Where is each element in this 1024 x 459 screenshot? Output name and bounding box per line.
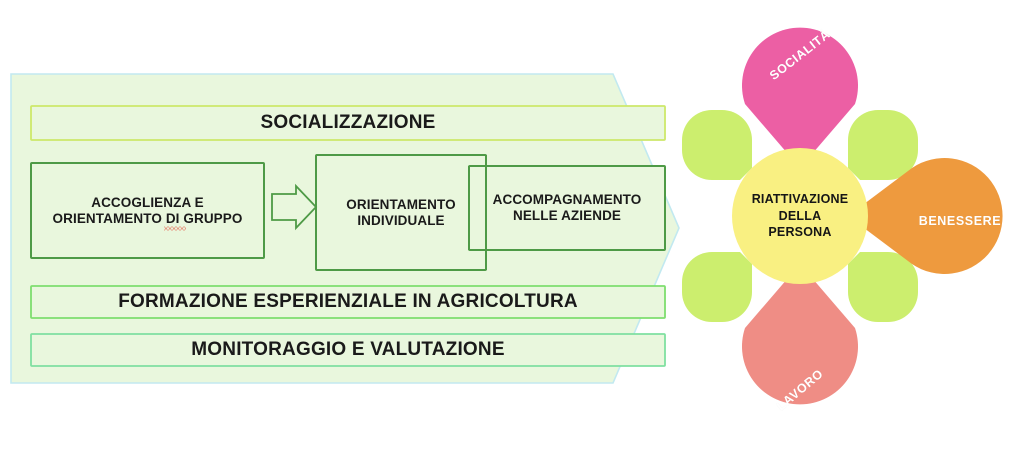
band-formazione-box[interactable] (31, 286, 665, 318)
flower-hub-shape[interactable] (732, 148, 868, 284)
band-socializzazione-box[interactable] (31, 106, 665, 140)
band-monitoraggio-box[interactable] (31, 334, 665, 366)
leaf-bottom-right-shape (848, 252, 918, 322)
leaf-bottom-left-shape (682, 252, 752, 322)
process-box-orientamento-individuale[interactable] (316, 155, 486, 270)
petal-lavoro-shape[interactable] (742, 264, 858, 404)
diagram-canvas: SOCIALIZZAZIONE FORMAZIONE ESPERIENZIALE… (0, 0, 1024, 459)
process-box-accoglienza[interactable] (31, 163, 264, 258)
petal-socialita-shape[interactable] (742, 28, 858, 168)
leaf-top-right-shape (848, 110, 918, 180)
process-box-accompagnamento[interactable] (469, 166, 665, 250)
diagram-vector-layer (0, 0, 1024, 459)
leaf-top-left-shape (682, 110, 752, 180)
